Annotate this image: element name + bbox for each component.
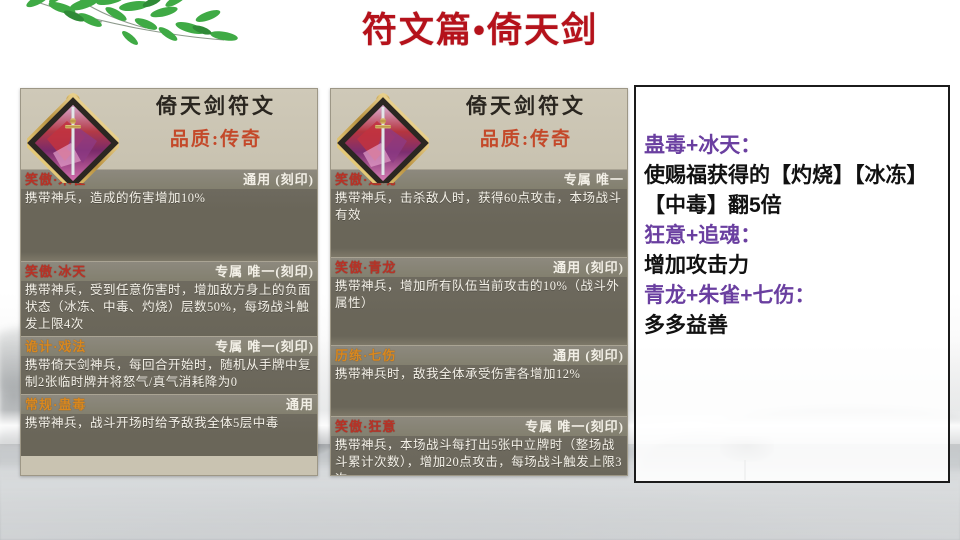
rune-entry-desc: 携带神兵，增加所有队伍当前攻击的10%（战斗外属性） xyxy=(331,277,627,315)
rune-entry[interactable]: 诡计·戏法 专属 唯一(刻印) 携带倚天剑神兵，每回合开始时，随机从手牌中复制2… xyxy=(21,336,317,394)
rune-entry-desc: 携带神兵时，敌我全体承受伤害各增加12% xyxy=(331,365,627,386)
rune-entry-filler xyxy=(331,386,627,407)
card-title-block: 倚天剑符文 品质:传奇 xyxy=(121,91,311,155)
combo-note-body: 增加攻击力 xyxy=(644,251,942,281)
rune-entry-tag: 专属 唯一(刻印) xyxy=(215,263,314,281)
rune-entry-filler xyxy=(21,435,317,456)
rune-entry-tag: 专属 唯一 xyxy=(564,171,624,189)
rune-card-right[interactable]: 倚天剑符文 品质:传奇 笑傲·追魂 专属 唯一 携带神兵，击杀敌人时，获得60点… xyxy=(330,88,628,476)
rune-entry-filler xyxy=(331,227,627,248)
rune-diamond-icon xyxy=(337,91,429,183)
rune-entry-tag: 专属 唯一(刻印) xyxy=(525,418,624,436)
rune-entry-title: 历练·七伤 xyxy=(335,347,396,365)
combo-notes-panel: 蛊毒+冰天： 使赐福获得的【灼烧】【冰冻】【中毒】翻5倍 狂意+追魂： 增加攻击… xyxy=(634,85,950,483)
rune-entry-filler xyxy=(21,231,317,252)
rune-entry-title: 诡计·戏法 xyxy=(25,338,86,356)
card-header: 倚天剑符文 品质:传奇 xyxy=(331,89,627,169)
rune-entry[interactable]: 笑傲·狂意 专属 唯一(刻印) 携带神兵，本场战斗每打出5张中立牌时（整场战斗累… xyxy=(331,416,627,476)
rune-entry-separator xyxy=(331,248,627,257)
rune-entry-separator xyxy=(331,407,627,416)
combo-note-title: 蛊毒+冰天： xyxy=(644,131,942,161)
rune-entry-desc: 携带倚天剑神兵，每回合开始时，随机从手牌中复制2张临时牌并将怒气/真气消耗降为0 xyxy=(21,356,317,394)
rune-entry-header: 笑傲·青龙 通用 (刻印) xyxy=(331,257,627,277)
rune-entry-title: 笑傲·冰天 xyxy=(25,263,86,281)
rune-entry-header: 常规·蛊毒 通用 xyxy=(21,394,317,414)
rune-entry[interactable]: 常规·蛊毒 通用 携带神兵，战斗开场时给予敌我全体5层中毒 xyxy=(21,394,317,456)
card-name: 倚天剑符文 xyxy=(431,91,621,121)
card-name: 倚天剑符文 xyxy=(121,91,311,121)
rune-entry-desc: 携带神兵，本场战斗每打出5张中立牌时（整场战斗累计次数），增加20点攻击，每场战… xyxy=(331,436,627,476)
rune-entry[interactable]: 历练·七伤 通用 (刻印) 携带神兵时，敌我全体承受伤害各增加12% xyxy=(331,345,627,416)
rune-entry-tag: 通用 (刻印) xyxy=(243,171,314,189)
rune-entry-filler xyxy=(21,210,317,231)
combo-note-title: 青龙+朱雀+七伤： xyxy=(644,281,942,311)
card-quality: 品质:传奇 xyxy=(431,125,621,155)
rune-entry-desc: 携带神兵，战斗开场时给予敌我全体5层中毒 xyxy=(21,414,317,435)
slide-canvas: 符文篇•倚天剑 xyxy=(0,0,960,540)
combo-note: 蛊毒+冰天： 使赐福获得的【灼烧】【冰冻】【中毒】翻5倍 xyxy=(644,131,942,221)
rune-entry-header: 历练·七伤 通用 (刻印) xyxy=(331,345,627,365)
rune-entry-tag: 专属 唯一(刻印) xyxy=(215,338,314,356)
card-quality: 品质:传奇 xyxy=(121,125,311,155)
rune-card-left[interactable]: 倚天剑符文 品质:传奇 笑傲·朱雀 通用 (刻印) 携带神兵，造成的伤害增加10… xyxy=(20,88,318,476)
combo-note-title: 狂意+追魂： xyxy=(644,221,942,251)
rune-entry-header: 诡计·戏法 专属 唯一(刻印) xyxy=(21,336,317,356)
rune-entry-tag: 通用 (刻印) xyxy=(553,347,624,365)
combo-note-body: 使赐福获得的【灼烧】【冰冻】【中毒】翻5倍 xyxy=(644,161,942,221)
rune-entry-title: 常规·蛊毒 xyxy=(25,396,86,414)
rune-entry-desc: 携带神兵，击杀敌人时，获得60点攻击，本场战斗有效 xyxy=(331,189,627,227)
combo-note-body: 多多益善 xyxy=(644,311,942,341)
rune-entry-tag: 通用 xyxy=(286,396,314,414)
card-title-block: 倚天剑符文 品质:传奇 xyxy=(431,91,621,155)
rune-entry-separator xyxy=(331,336,627,345)
combo-note: 青龙+朱雀+七伤： 多多益善 xyxy=(644,281,942,341)
rune-entry[interactable]: 笑傲·冰天 专属 唯一(刻印) 携带神兵，受到任意伤害时，增加敌方身上的负面状态… xyxy=(21,261,317,336)
page-title: 符文篇•倚天剑 xyxy=(0,8,960,54)
rune-entry-tag: 通用 (刻印) xyxy=(553,259,624,277)
rune-entry-header: 笑傲·冰天 专属 唯一(刻印) xyxy=(21,261,317,281)
combo-note: 狂意+追魂： 增加攻击力 xyxy=(644,221,942,281)
card-header: 倚天剑符文 品质:传奇 xyxy=(21,89,317,169)
rune-entry-desc: 携带神兵，造成的伤害增加10% xyxy=(21,189,317,210)
rune-entry-title: 笑傲·狂意 xyxy=(335,418,396,436)
rune-entry[interactable]: 笑傲·青龙 通用 (刻印) 携带神兵，增加所有队伍当前攻击的10%（战斗外属性） xyxy=(331,257,627,345)
rune-entry-desc: 携带神兵，受到任意伤害时，增加敌方身上的负面状态（冰冻、中毒、灼烧）层数50%，… xyxy=(21,281,317,336)
rune-entry-separator xyxy=(21,252,317,261)
rune-entry-header: 笑傲·狂意 专属 唯一(刻印) xyxy=(331,416,627,436)
rune-entry-filler xyxy=(331,315,627,336)
rune-entry-title: 笑傲·青龙 xyxy=(335,259,396,277)
rune-diamond-icon xyxy=(27,91,119,183)
